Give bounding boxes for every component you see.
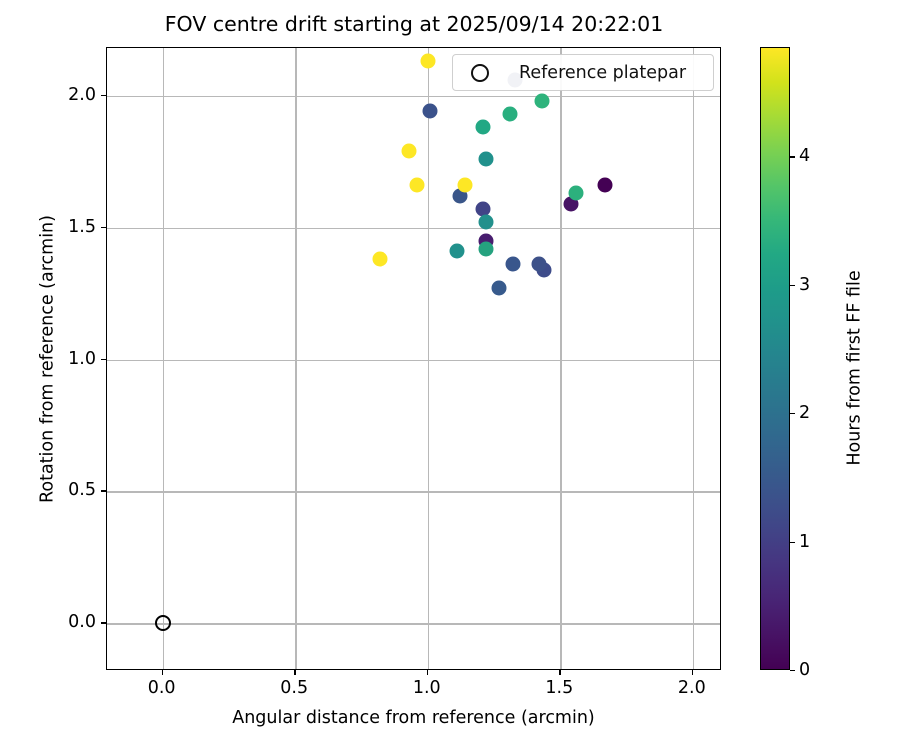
scatter-point xyxy=(402,143,417,158)
chart-page: FOV centre drift starting at 2025/09/14 … xyxy=(0,0,900,750)
scatter-point xyxy=(373,252,388,267)
y-tick-label: 2.0 xyxy=(68,85,96,105)
colorbar-tick-mark xyxy=(790,670,795,671)
y-tick-label: 0.5 xyxy=(68,480,96,500)
gridline-vertical xyxy=(163,48,164,669)
y-tick-mark xyxy=(101,359,106,360)
colorbar-tick-mark xyxy=(790,542,795,543)
gridline-horizontal xyxy=(107,360,720,361)
gridline-vertical xyxy=(560,48,561,669)
scatter-point xyxy=(476,120,491,135)
x-tick-mark xyxy=(692,670,693,675)
gridline-horizontal xyxy=(107,491,720,492)
y-axis-label: Rotation from reference (arcmin) xyxy=(38,48,58,671)
colorbar-tick-label: 2 xyxy=(799,403,810,423)
x-axis-label: Angular distance from reference (arcmin) xyxy=(106,708,721,728)
y-tick-label: 0.0 xyxy=(68,612,96,632)
scatter-point xyxy=(449,244,464,259)
x-tick-mark xyxy=(162,670,163,675)
colorbar xyxy=(760,47,790,670)
gridline-horizontal xyxy=(107,228,720,229)
colorbar-tick-mark xyxy=(790,156,795,157)
scatter-point xyxy=(569,186,584,201)
gridline-horizontal xyxy=(107,623,720,624)
y-tick-mark xyxy=(101,622,106,623)
y-tick-mark xyxy=(101,95,106,96)
scatter-point xyxy=(492,281,507,296)
page-title: FOV centre drift starting at 2025/09/14 … xyxy=(0,12,828,36)
scatter-point xyxy=(410,178,425,193)
colorbar-tick-label: 1 xyxy=(799,532,810,552)
colorbar-tick-label: 4 xyxy=(799,146,810,166)
legend-label: Reference platepar xyxy=(519,63,686,83)
scatter-point xyxy=(532,257,547,272)
scatter-point xyxy=(598,178,613,193)
gridline-horizontal xyxy=(107,96,720,97)
y-tick-mark xyxy=(101,227,106,228)
colorbar-label: Hours from first FF file xyxy=(845,57,865,680)
scatter-point xyxy=(502,106,517,121)
colorbar-tick-mark xyxy=(790,413,795,414)
scatter-point xyxy=(505,257,520,272)
plot-area xyxy=(107,48,720,669)
scatter-point xyxy=(420,54,435,69)
x-tick-mark xyxy=(427,670,428,675)
y-tick-label: 1.5 xyxy=(68,217,96,237)
x-tick-mark xyxy=(294,670,295,675)
x-tick-label: 2.0 xyxy=(678,678,706,698)
gridline-vertical xyxy=(428,48,429,669)
x-tick-label: 1.0 xyxy=(413,678,441,698)
scatter-point xyxy=(534,93,549,108)
scatter-point xyxy=(479,215,494,230)
gridline-vertical xyxy=(693,48,694,669)
colorbar-tick-mark xyxy=(790,285,795,286)
reference-platepar-point xyxy=(155,615,171,631)
colorbar-tick-label: 0 xyxy=(799,660,810,680)
x-tick-label: 0.5 xyxy=(280,678,308,698)
y-tick-label: 1.0 xyxy=(68,349,96,369)
scatter-point xyxy=(479,151,494,166)
plot-axes xyxy=(106,47,721,670)
x-tick-label: 0.0 xyxy=(148,678,176,698)
scatter-point xyxy=(457,178,472,193)
colorbar-tick-label: 3 xyxy=(799,275,810,295)
x-tick-mark xyxy=(559,670,560,675)
reference-platepar-marker-icon xyxy=(471,64,489,82)
scatter-point xyxy=(479,241,494,256)
legend: Reference platepar xyxy=(452,54,714,91)
gridline-vertical xyxy=(295,48,296,669)
y-tick-mark xyxy=(101,490,106,491)
scatter-point xyxy=(423,104,438,119)
x-tick-label: 1.5 xyxy=(545,678,573,698)
